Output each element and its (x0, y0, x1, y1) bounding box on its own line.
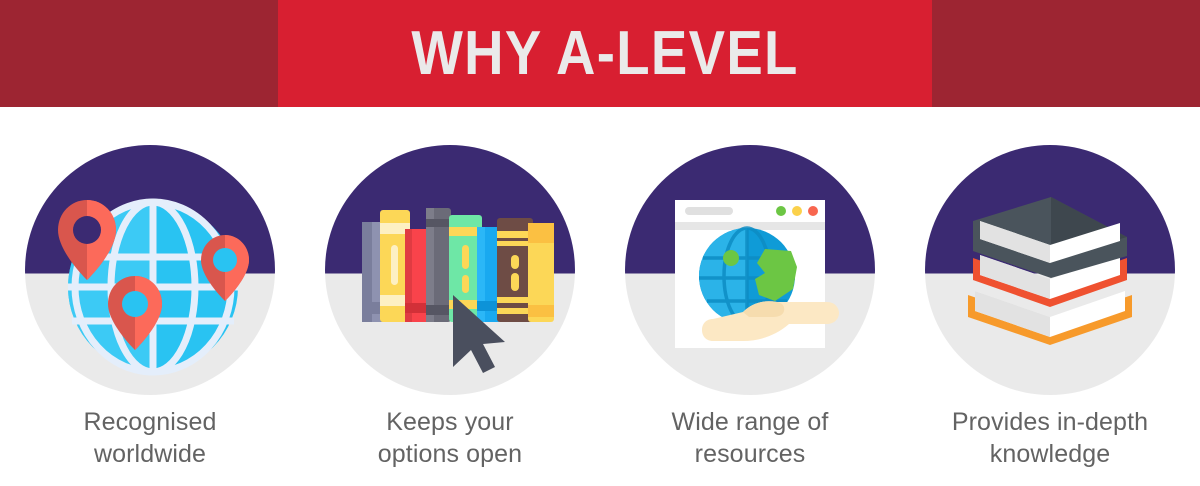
caption-line-1: Provides in-depth (900, 406, 1200, 438)
caption-line-2: worldwide (0, 438, 300, 470)
address-bar (685, 207, 733, 215)
icon-circle-recognised-worldwide (25, 145, 275, 395)
benefit-card-recognised-worldwide: Recognised worldwide (0, 107, 300, 486)
header-banner: WHY A-LEVEL (0, 0, 1200, 107)
caption-line-1: Wide range of (600, 406, 900, 438)
caption-line-1: Recognised (0, 406, 300, 438)
land-dot (723, 250, 739, 266)
window-dot-green (776, 206, 786, 216)
circle-background (925, 145, 1175, 395)
caption-line-1: Keeps your (300, 406, 600, 438)
caption-provides-in-depth-knowledge: Provides in-depth knowledge (900, 406, 1200, 470)
books-row-with-cursor-icon (325, 145, 575, 395)
book-spine-brown (497, 218, 533, 322)
caption-keeps-options-open: Keeps your options open (300, 406, 600, 470)
caption-recognised-worldwide: Recognised worldwide (0, 406, 300, 470)
circle-background (25, 145, 275, 395)
caption-line-2: options open (300, 438, 600, 470)
book-spine-gold (528, 223, 554, 322)
page-title: WHY A-LEVEL (317, 0, 893, 107)
book-spine-darkgray (426, 208, 451, 322)
benefits-row: Recognised worldwide (0, 107, 1200, 486)
infographic-page: WHY A-LEVEL (0, 0, 1200, 486)
browser-window-hand-holding-globe-icon (625, 145, 875, 395)
icon-circle-wide-range-resources (625, 145, 875, 395)
caption-line-2: resources (600, 438, 900, 470)
circle-background (625, 145, 875, 395)
caption-line-2: knowledge (900, 438, 1200, 470)
benefit-card-provides-in-depth-knowledge: Provides in-depth knowledge (900, 107, 1200, 486)
circle-background (325, 145, 575, 395)
benefit-card-wide-range-resources: Wide range of resources (600, 107, 900, 486)
benefit-card-keeps-options-open: Keeps your options open (300, 107, 600, 486)
stacked-books-icon (925, 145, 1175, 395)
window-dot-yellow (792, 206, 802, 216)
caption-wide-range-resources: Wide range of resources (600, 406, 900, 470)
globe-with-location-pins-icon (25, 145, 275, 395)
window-dot-red (808, 206, 818, 216)
icon-circle-keeps-options-open (325, 145, 575, 395)
icon-circle-provides-in-depth-knowledge (925, 145, 1175, 395)
